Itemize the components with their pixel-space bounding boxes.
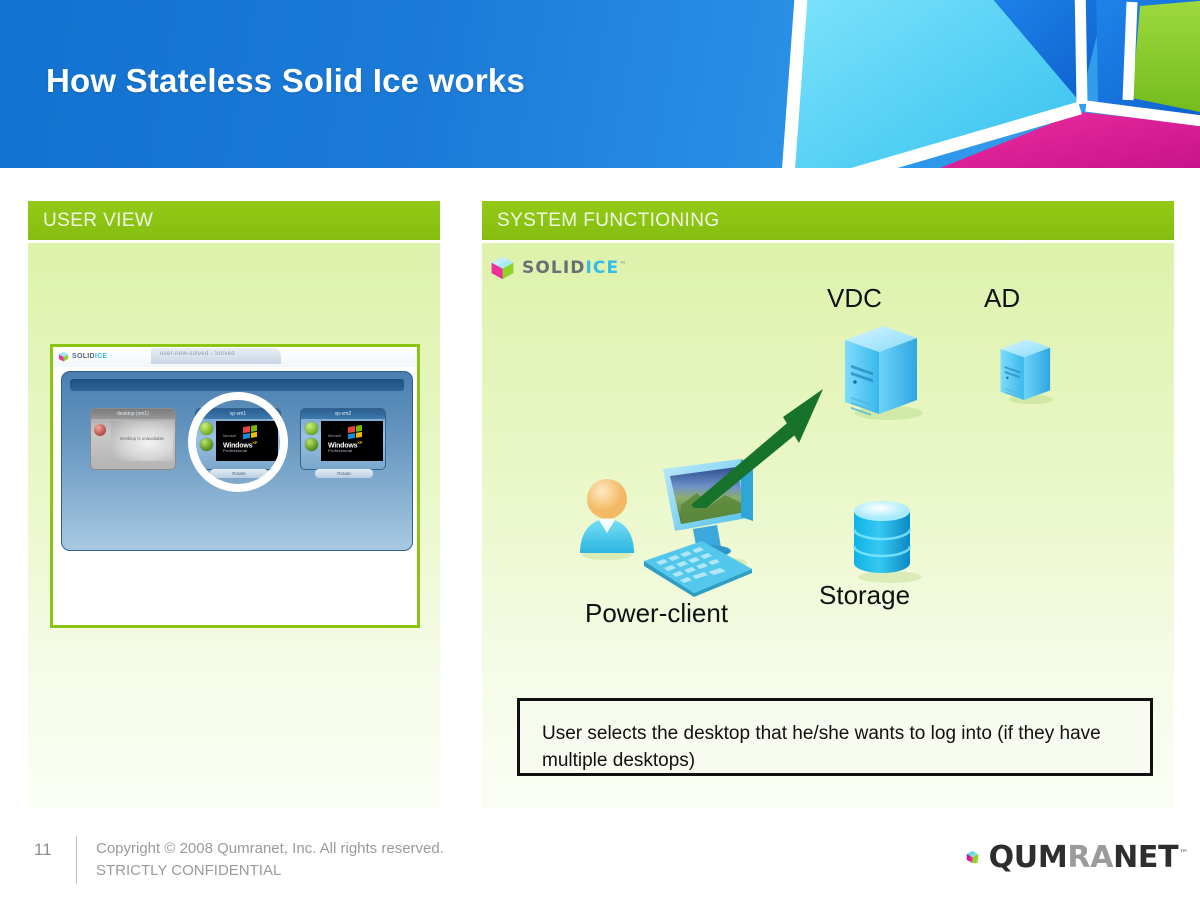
windows-flag-icon xyxy=(348,425,362,439)
caption-text: User selects the desktop that he/she wan… xyxy=(542,723,1101,771)
copyright-line: Copyright © 2008 Qumranet, Inc. All righ… xyxy=(96,838,444,860)
tile-buttons[interactable] xyxy=(305,422,318,454)
tile-screen: Desktop is unavailable xyxy=(111,421,173,461)
selection-highlight-circle xyxy=(188,392,288,492)
client-tab[interactable]: user-new-solved - Solved xyxy=(151,348,281,364)
client-app-area: desktop (vm1) Desktop is unavailable xp-… xyxy=(61,371,413,551)
qumranet-logo-text: QUMRANET™ xyxy=(989,840,1188,875)
footer-copyright: Copyright © 2008 Qumranet, Inc. All righ… xyxy=(96,838,444,882)
solidice-logo: SOLIDICE™ xyxy=(490,255,627,280)
start-button-icon[interactable] xyxy=(305,422,318,435)
tile-screen-gray: Desktop is unavailable xyxy=(111,421,173,461)
solidice-cube-icon xyxy=(58,351,69,362)
panel-system-functioning: SOLIDICE™ VDC AD Storage Power-client xyxy=(482,243,1174,808)
page-title: How Stateless Solid Ice works xyxy=(46,62,525,100)
solidice-logo-text: SOLIDICE™ xyxy=(522,258,627,278)
client-tab-label: user-new-solved - Solved xyxy=(160,351,235,357)
server-icon-vdc xyxy=(837,318,927,423)
panel-heading-user-view: USER VIEW xyxy=(28,201,440,240)
qumranet-logo: QUMRANET™ xyxy=(966,826,1188,888)
client-screenshot: SOLIDICE user-new-solved - Solved deskto… xyxy=(50,344,420,628)
page-number: 11 xyxy=(34,840,52,860)
power-icon xyxy=(94,424,106,436)
panel-heading-label: USER VIEW xyxy=(43,210,153,232)
header-decorative-shapes xyxy=(780,0,1200,168)
server-icon-ad xyxy=(995,331,1057,409)
desktop-tile-unavailable[interactable]: desktop (vm1) Desktop is unavailable xyxy=(90,408,176,470)
desktop-tile-xp-vm2[interactable]: xp-vm2 Microsoft WindowsXP Professional xyxy=(300,408,386,470)
os-edition: Professional xyxy=(328,448,352,453)
confidential-line: STRICTLY CONFIDENTIAL xyxy=(96,860,444,882)
windows-xp-boot-screen: Microsoft WindowsXP Professional xyxy=(321,421,383,461)
tile-screen: Microsoft WindowsXP Professional xyxy=(321,421,383,461)
node-label-power-client: Power-client xyxy=(585,598,728,629)
qumranet-cube-icon xyxy=(966,834,980,880)
storage-icon xyxy=(844,493,928,589)
panel-heading-label: SYSTEM FUNCTIONING xyxy=(497,210,720,232)
keyboard-icon xyxy=(630,535,760,601)
os-brand: Microsoft xyxy=(328,434,341,438)
solidice-cube-icon xyxy=(490,255,515,280)
client-toolbar xyxy=(70,379,404,391)
flow-arrow-client-to-vdc xyxy=(687,373,847,508)
node-label-ad: AD xyxy=(984,283,1020,314)
tile-title: desktop (vm1) xyxy=(91,409,175,419)
panel-user-view: SOLIDICE user-new-solved - Solved deskto… xyxy=(28,243,440,808)
client-solidice-logo: SOLIDICE xyxy=(58,351,107,362)
slide-header: How Stateless Solid Ice works xyxy=(0,0,1200,168)
panel-heading-system-functioning: SYSTEM FUNCTIONING xyxy=(482,201,1174,240)
caption-box: User selects the desktop that he/she wan… xyxy=(517,698,1153,776)
footer-divider xyxy=(76,836,77,884)
stop-button-icon[interactable] xyxy=(305,438,318,451)
node-label-vdc: VDC xyxy=(827,283,882,314)
tile-footer[interactable]: Rotate xyxy=(315,469,373,478)
client-logo-text: SOLIDICE xyxy=(72,353,107,360)
tile-screen-text: Desktop is unavailable xyxy=(118,436,166,442)
tile-title: xp-vm2 xyxy=(301,409,385,419)
